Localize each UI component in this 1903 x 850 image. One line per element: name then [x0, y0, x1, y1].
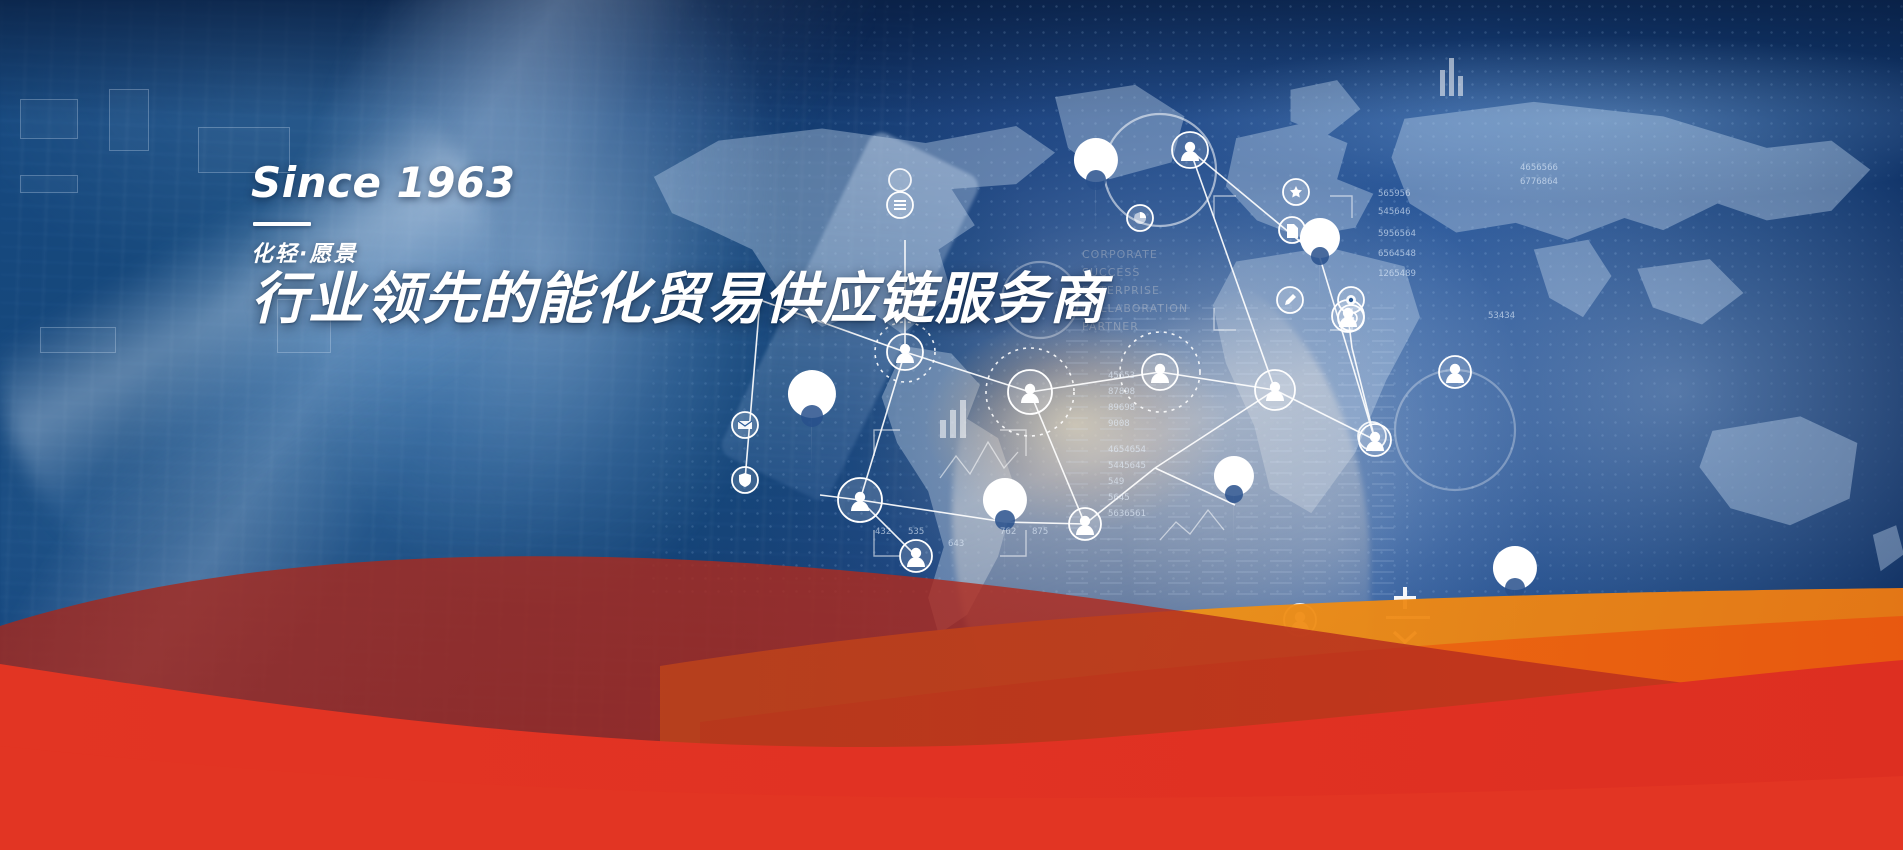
vision-subtitle: 化轻·愿景 [251, 236, 1106, 268]
since-year-eyebrow: Since 1963 [251, 162, 1106, 205]
pie-chart-icon [1127, 205, 1153, 231]
star-icon [1283, 179, 1309, 205]
page-title: 行业领先的能化贸易供应链服务商 [251, 271, 1106, 330]
user-node-icon [887, 334, 923, 370]
user-node-icon [1008, 370, 1052, 414]
svg-text:89698: 89698 [1108, 403, 1135, 413]
svg-text:87898: 87898 [1108, 387, 1135, 397]
user-node-icon [1172, 132, 1208, 168]
copy-divider [253, 222, 311, 226]
color-wave-ribbons [0, 470, 1903, 850]
svg-text:1265489: 1265489 [1378, 269, 1416, 279]
user-node-icon [1142, 354, 1178, 390]
user-node-icon [1439, 356, 1471, 388]
pencil-icon [1277, 287, 1303, 313]
document-icon [1279, 217, 1305, 243]
clock-icon [1338, 305, 1364, 331]
svg-text:6776864: 6776864 [1520, 177, 1558, 187]
svg-text:9008: 9008 [1108, 419, 1130, 429]
mail-icon [732, 412, 758, 438]
svg-text:565956: 565956 [1378, 189, 1411, 199]
svg-text:6564548: 6564548 [1378, 249, 1416, 259]
hero-copy-block: Since 1963 化轻·愿景 行业领先的能化贸易供应链服务商 [251, 162, 1106, 330]
svg-text:545646: 545646 [1378, 207, 1411, 217]
svg-text:4654654: 4654654 [1108, 445, 1146, 455]
hero-banner: 565956 545646 5956564 6564548 1265489 46… [0, 0, 1903, 850]
user-node-icon [1358, 422, 1386, 450]
user-node-icon [1255, 370, 1295, 410]
svg-text:53434: 53434 [1488, 311, 1515, 321]
svg-text:5956564: 5956564 [1378, 229, 1416, 239]
svg-text:45653: 45653 [1108, 371, 1135, 381]
svg-text:4656566: 4656566 [1520, 163, 1558, 173]
